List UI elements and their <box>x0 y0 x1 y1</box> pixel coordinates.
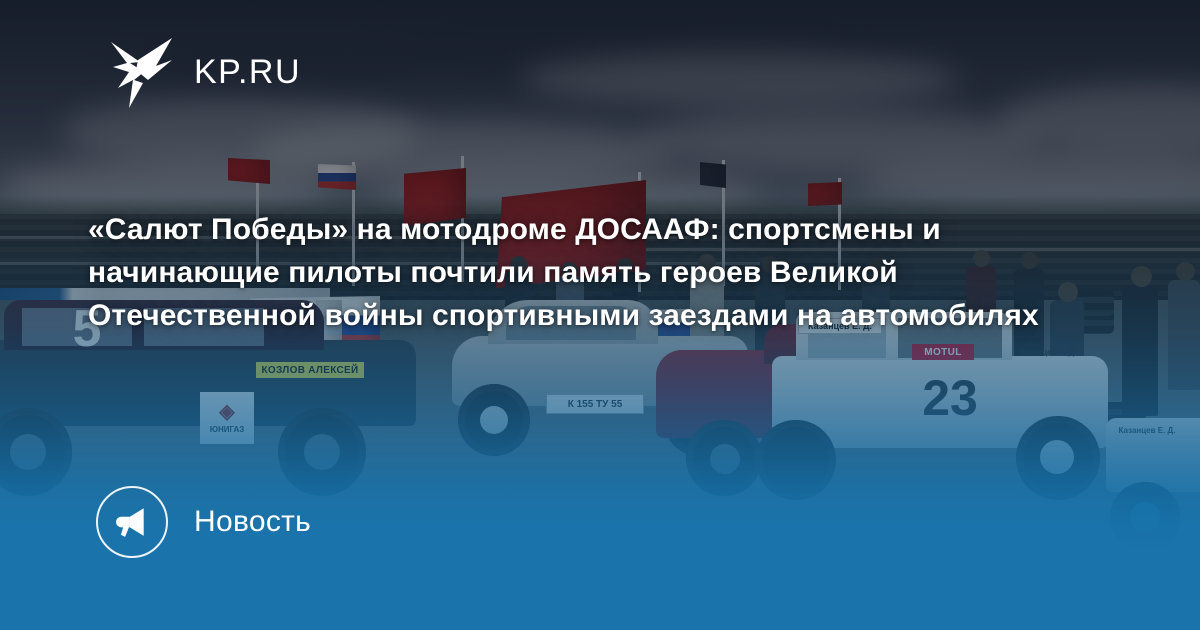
kicker-label: Новость <box>194 507 311 537</box>
megaphone-icon <box>115 505 149 539</box>
card-content: KP.RU «Салют Победы» на мотодроме ДОСААФ… <box>0 0 1200 630</box>
page-title: «Салют Победы» на мотодроме ДОСААФ: спор… <box>88 208 1088 337</box>
kicker-badge-group[interactable]: Новость <box>96 486 311 558</box>
swallow-bird-icon <box>110 36 174 108</box>
brand-lockup[interactable]: KP.RU <box>110 36 301 108</box>
news-share-card: 5 КОЗЛОВ АЛЕКСЕЙ ◈ ЮНИГАЗ К 155 ТУ 55 <box>0 0 1200 630</box>
brand-name: KP.RU <box>194 55 301 89</box>
megaphone-icon-circle <box>96 486 168 558</box>
